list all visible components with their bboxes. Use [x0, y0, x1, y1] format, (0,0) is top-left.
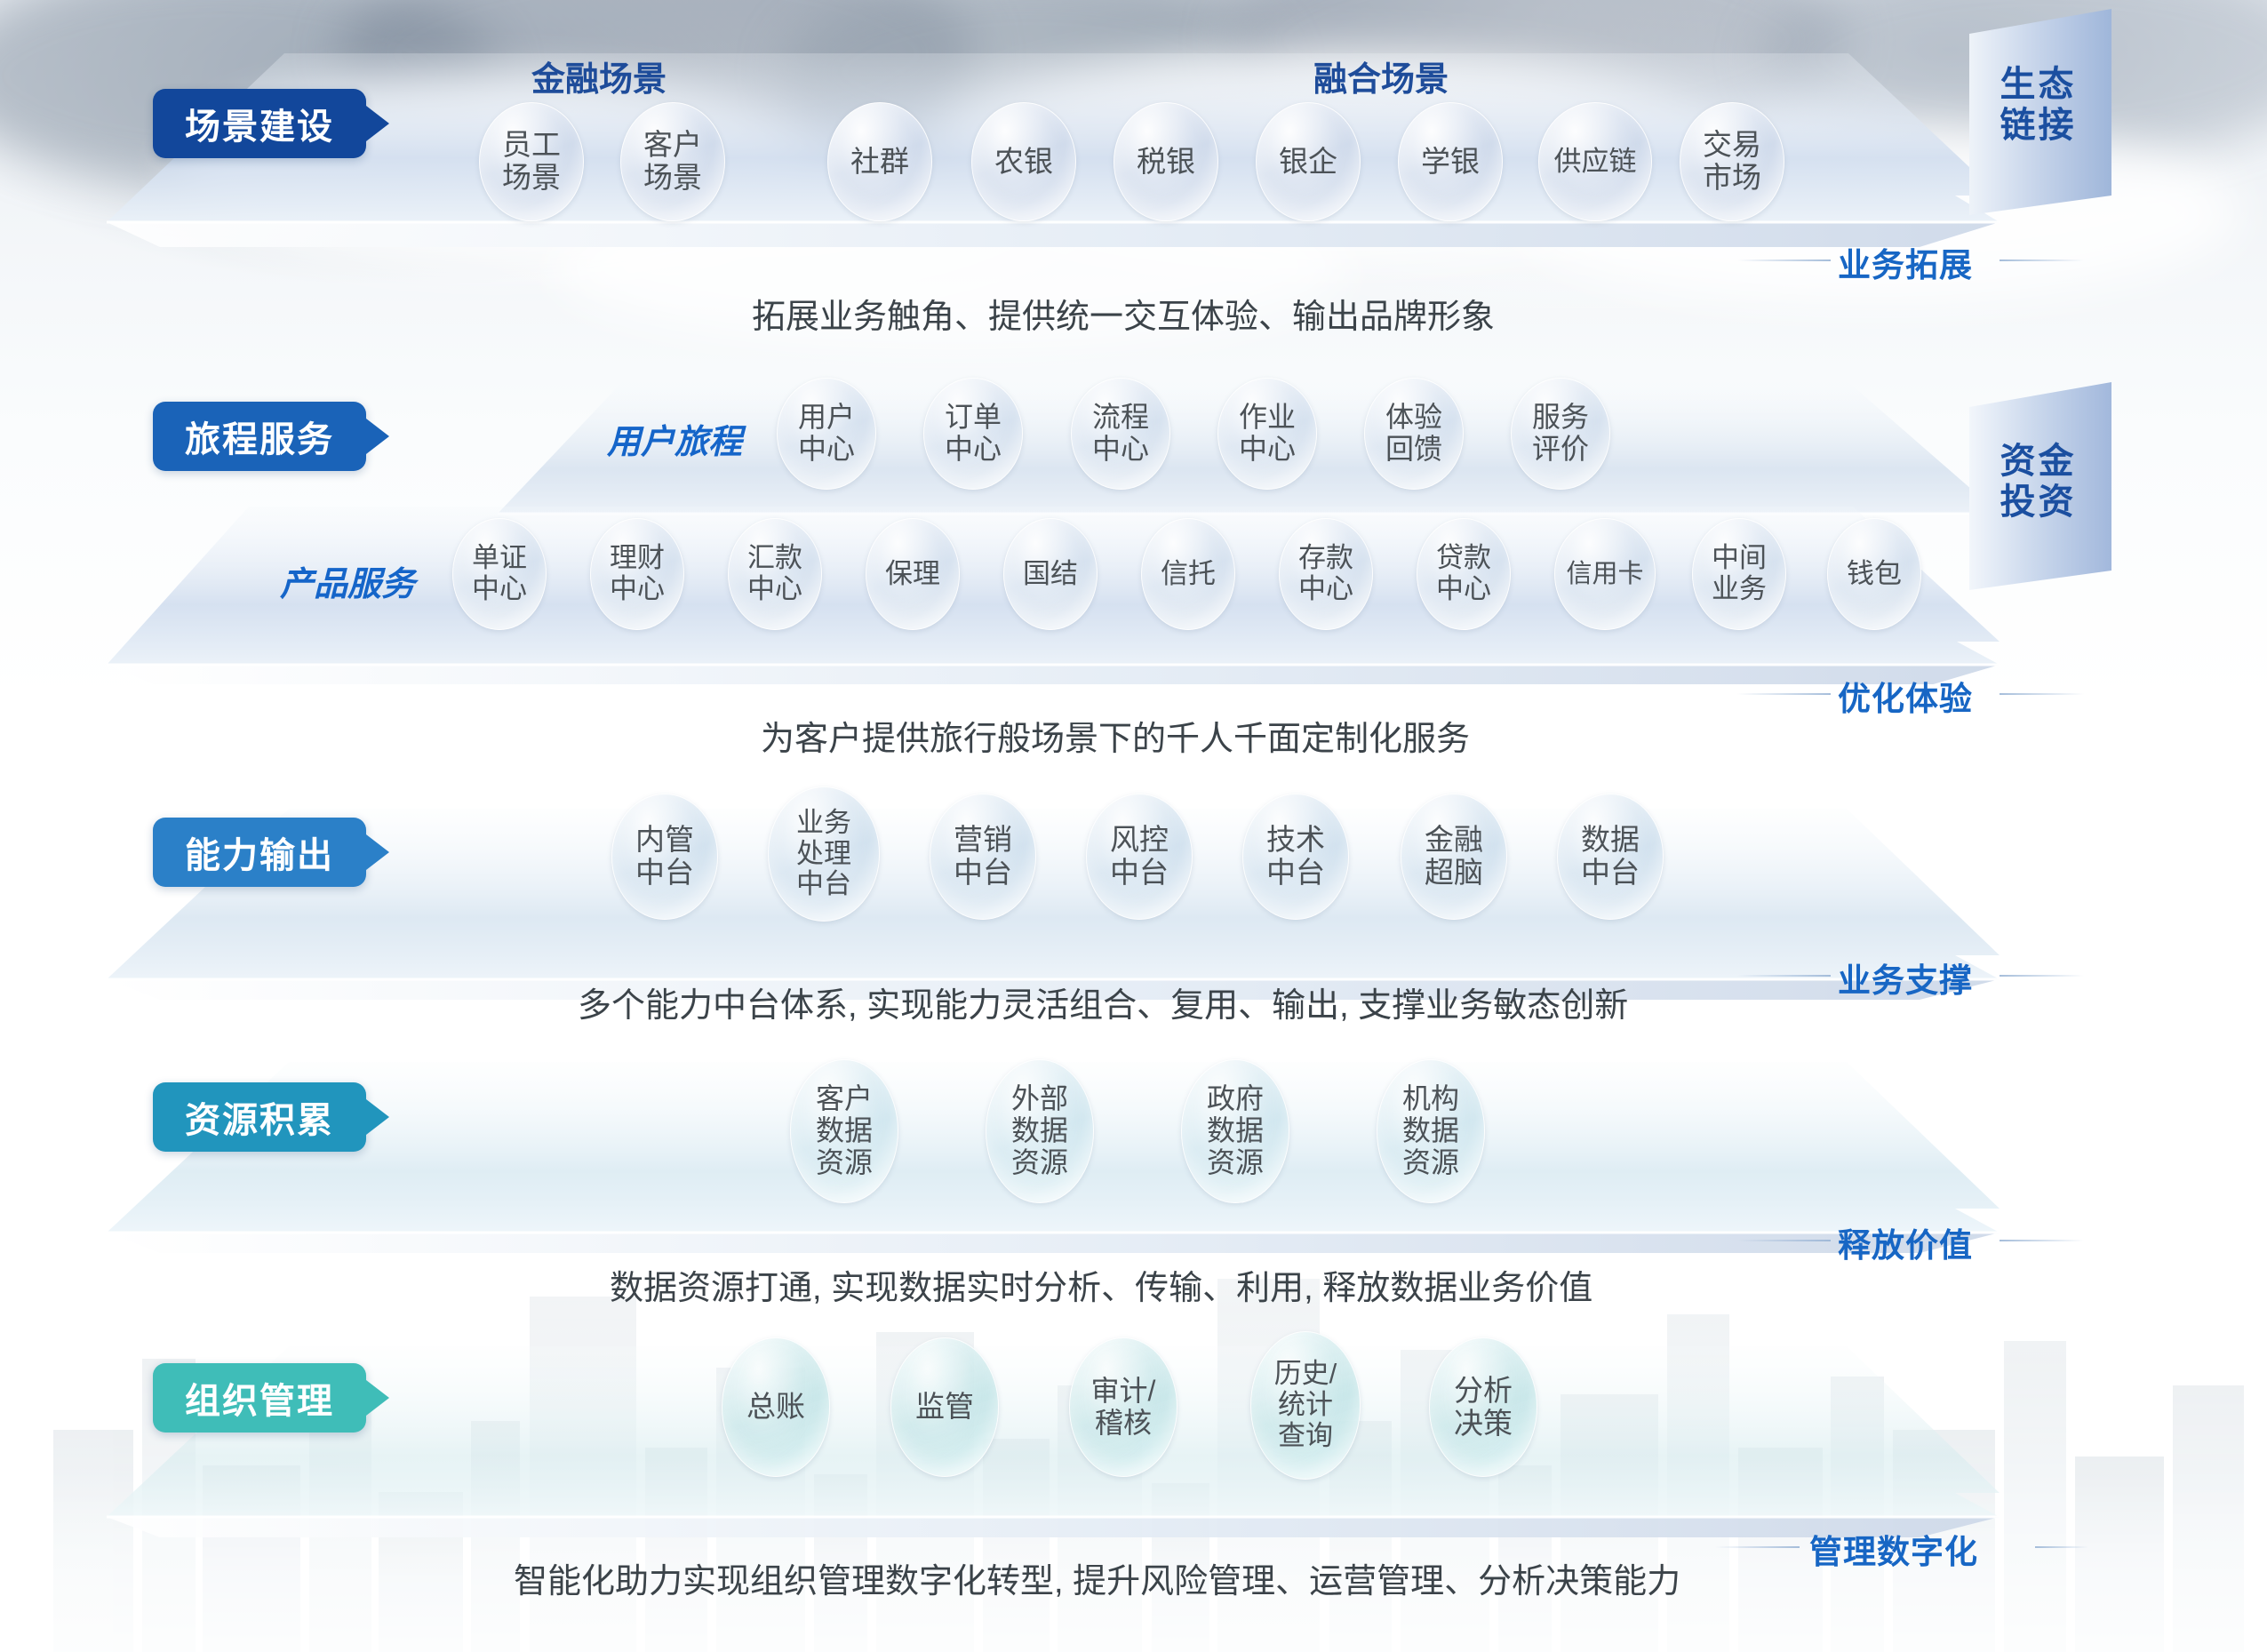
journey-bubble-label: 体验回馈	[1382, 402, 1446, 466]
product-bubble[interactable]: 理财中心	[590, 518, 684, 630]
scene-bubble-label: 交易市场	[1699, 129, 1765, 195]
tag-pointer-icon	[366, 834, 389, 870]
product-bubble[interactable]: 单证中心	[452, 518, 547, 630]
journey-bubble[interactable]: 用户中心	[777, 378, 876, 490]
journey-bubble-label: 作业中心	[1235, 402, 1299, 466]
scene-bubble-label: 银企	[1275, 146, 1341, 179]
scene-bubble[interactable]: 供应链	[1538, 102, 1652, 221]
scene-bubble-label: 客户场景	[640, 129, 706, 195]
capability-bubble[interactable]: 技术中台	[1242, 794, 1349, 920]
capability-bubble[interactable]: 数据中台	[1557, 794, 1664, 920]
step-label-business-support: 业务支撑	[1838, 954, 1973, 1002]
product-bubble-label: 存款中心	[1295, 543, 1357, 604]
journey-bubble[interactable]: 流程中心	[1071, 378, 1170, 490]
product-bubble-label: 理财中心	[606, 543, 668, 604]
product-bubble[interactable]: 贷款中心	[1417, 518, 1511, 630]
resource-bubble[interactable]: 机构数据资源	[1377, 1059, 1485, 1203]
scene-bubble-label: 农银	[991, 146, 1057, 179]
org-bubble-label: 分析决策	[1450, 1375, 1516, 1441]
resource-bubble-label: 外部数据资源	[1008, 1083, 1072, 1178]
product-bubble-label: 汇款中心	[744, 543, 806, 604]
tag-pointer-icon	[366, 106, 389, 141]
divider-rule	[2000, 1240, 2084, 1241]
journey-bubble[interactable]: 体验回馈	[1364, 378, 1464, 490]
org-bubble[interactable]: 总账	[722, 1337, 830, 1477]
row-label-product-service: 产品服务	[280, 556, 415, 605]
banner-ecosystem-label: 生态链接	[1969, 64, 2107, 147]
caption-resource: 数据资源打通, 实现数据实时分析、传输、利用, 释放数据业务价值	[610, 1260, 1592, 1309]
product-bubble-label: 单证中心	[468, 543, 531, 604]
scene-bubble[interactable]: 税银	[1114, 102, 1218, 221]
sidebar-item-label-resource: 资源积累	[185, 1091, 334, 1143]
divider-rule	[2035, 1546, 2088, 1548]
row-label-user-journey: 用户旅程	[607, 414, 742, 463]
scene-bubble-label: 社群	[847, 146, 913, 179]
caption-capability: 多个能力中台体系, 实现能力灵活组合、复用、输出, 支撑业务敏态创新	[578, 978, 1628, 1026]
resource-bubble-label: 政府数据资源	[1203, 1083, 1267, 1178]
capability-bubble-label: 风控中台	[1106, 824, 1172, 890]
product-bubble-label: 贷款中心	[1433, 543, 1495, 604]
capability-bubble-label: 技术中台	[1263, 824, 1329, 890]
org-bubble-label: 监管	[912, 1391, 978, 1424]
group-title-financial-scene: 金融场景	[531, 52, 667, 100]
product-bubble-label: 信用卡	[1562, 560, 1647, 588]
platform-org	[107, 1346, 2000, 1537]
capability-bubble[interactable]: 风控中台	[1086, 794, 1193, 920]
sidebar-item-org[interactable]: 组织管理	[153, 1363, 366, 1433]
scene-bubble[interactable]: 银企	[1256, 102, 1361, 221]
resource-bubble[interactable]: 客户数据资源	[790, 1059, 898, 1203]
product-bubble[interactable]: 中间业务	[1692, 518, 1786, 630]
sidebar-item-resource[interactable]: 资源积累	[153, 1082, 366, 1152]
journey-bubble-label: 订单中心	[941, 402, 1005, 466]
product-bubble-label: 国结	[1019, 559, 1082, 590]
step-label-release-value: 释放价值	[1838, 1218, 1973, 1266]
journey-bubble-label: 流程中心	[1089, 402, 1153, 466]
caption-scene: 拓展业务触角、提供统一交互体验、输出品牌形象	[752, 289, 1495, 338]
resource-bubble[interactable]: 政府数据资源	[1181, 1059, 1289, 1203]
journey-bubble[interactable]: 订单中心	[923, 378, 1023, 490]
resource-bubble-label: 机构数据资源	[1399, 1083, 1463, 1178]
tag-pointer-icon	[366, 419, 389, 454]
org-bubble[interactable]: 历史/统计查询	[1250, 1331, 1361, 1480]
tag-pointer-icon	[366, 1380, 389, 1416]
scene-bubble-label: 学银	[1417, 146, 1483, 179]
product-bubble[interactable]: 保理	[866, 518, 960, 630]
capability-bubble-label: 金融超脑	[1421, 824, 1487, 890]
sidebar-item-capability[interactable]: 能力输出	[153, 818, 366, 887]
scene-bubble[interactable]: 交易市场	[1680, 102, 1784, 221]
scene-bubble[interactable]: 客户场景	[620, 102, 725, 221]
capability-bubble[interactable]: 金融超脑	[1401, 794, 1507, 920]
capability-bubble-label: 营销中台	[950, 824, 1016, 890]
step-label-business-expansion: 业务拓展	[1838, 238, 1973, 286]
divider-rule	[1737, 1240, 1831, 1241]
product-bubble[interactable]: 国结	[1003, 518, 1098, 630]
caption-journey: 为客户提供旅行般场景下的千人千面定制化服务	[761, 711, 1470, 760]
divider-rule	[1715, 1546, 1800, 1548]
capability-bubble[interactable]: 营销中台	[930, 794, 1036, 920]
product-bubble[interactable]: 存款中心	[1279, 518, 1373, 630]
scene-bubble-label: 供应链	[1551, 147, 1640, 178]
scene-bubble[interactable]: 农银	[971, 102, 1076, 221]
group-title-fusion-scene: 融合场景	[1313, 52, 1449, 100]
org-bubble[interactable]: 审计/稽核	[1069, 1337, 1177, 1477]
product-bubble-label: 钱包	[1843, 559, 1905, 590]
scene-bubble[interactable]: 社群	[827, 102, 932, 221]
scene-bubble-label: 员工场景	[499, 129, 564, 195]
resource-bubble[interactable]: 外部数据资源	[986, 1059, 1094, 1203]
sidebar-item-label-capability: 能力输出	[185, 826, 334, 878]
capability-bubble-label: 数据中台	[1577, 824, 1643, 890]
scene-bubble[interactable]: 学银	[1398, 102, 1503, 221]
platform-capability	[107, 809, 2000, 1000]
divider-rule	[1737, 259, 1831, 261]
sidebar-item-journey[interactable]: 旅程服务	[153, 402, 366, 471]
sidebar-item-label-org: 组织管理	[185, 1372, 334, 1424]
scene-bubble-label: 税银	[1133, 146, 1199, 179]
product-bubble-label: 保理	[882, 559, 944, 590]
journey-bubble-label: 用户中心	[794, 402, 858, 466]
product-bubble-label: 中间业务	[1708, 543, 1770, 604]
scene-bubble[interactable]: 员工场景	[479, 102, 584, 221]
org-bubble[interactable]: 分析决策	[1429, 1337, 1537, 1477]
resource-bubble-label: 客户数据资源	[812, 1083, 876, 1178]
divider-rule	[2000, 259, 2084, 261]
org-bubble-label: 历史/统计查询	[1271, 1359, 1341, 1451]
product-bubble[interactable]: 钱包	[1827, 518, 1921, 630]
capability-bubble-label: 业务处理中台	[793, 808, 855, 900]
sidebar-item-label-journey: 旅程服务	[185, 411, 334, 462]
org-bubble-label: 总账	[743, 1391, 809, 1424]
org-bubble-label: 审计/稽核	[1088, 1376, 1160, 1440]
capability-bubble-label: 内管中台	[632, 824, 698, 890]
tag-pointer-icon	[366, 1099, 389, 1135]
step-label-optimize-experience: 优化体验	[1838, 672, 1973, 720]
banner-capital-label: 资金投资	[1969, 441, 2107, 523]
product-bubble[interactable]: 汇款中心	[728, 518, 822, 630]
product-bubble[interactable]: 信托	[1141, 518, 1235, 630]
product-bubble-label: 信托	[1157, 559, 1219, 590]
divider-rule	[2000, 975, 2084, 977]
journey-bubble[interactable]: 服务评价	[1511, 378, 1610, 490]
divider-rule	[2000, 693, 2084, 695]
org-bubble[interactable]: 监管	[890, 1337, 999, 1477]
product-bubble[interactable]: 信用卡	[1554, 518, 1656, 630]
journey-bubble-label: 服务评价	[1529, 402, 1592, 466]
step-label-management-digital: 管理数字化	[1809, 1525, 1978, 1573]
journey-bubble[interactable]: 作业中心	[1217, 378, 1317, 490]
divider-rule	[1737, 693, 1831, 695]
sidebar-item-scene[interactable]: 场景建设	[153, 89, 366, 158]
capability-bubble[interactable]: 业务处理中台	[768, 786, 880, 922]
capability-bubble[interactable]: 内管中台	[611, 794, 718, 920]
sidebar-item-label-scene: 场景建设	[185, 98, 334, 149]
caption-org: 智能化助力实现组织管理数字化转型, 提升风险管理、运营管理、分析决策能力	[514, 1553, 1680, 1602]
divider-rule	[1737, 975, 1831, 977]
